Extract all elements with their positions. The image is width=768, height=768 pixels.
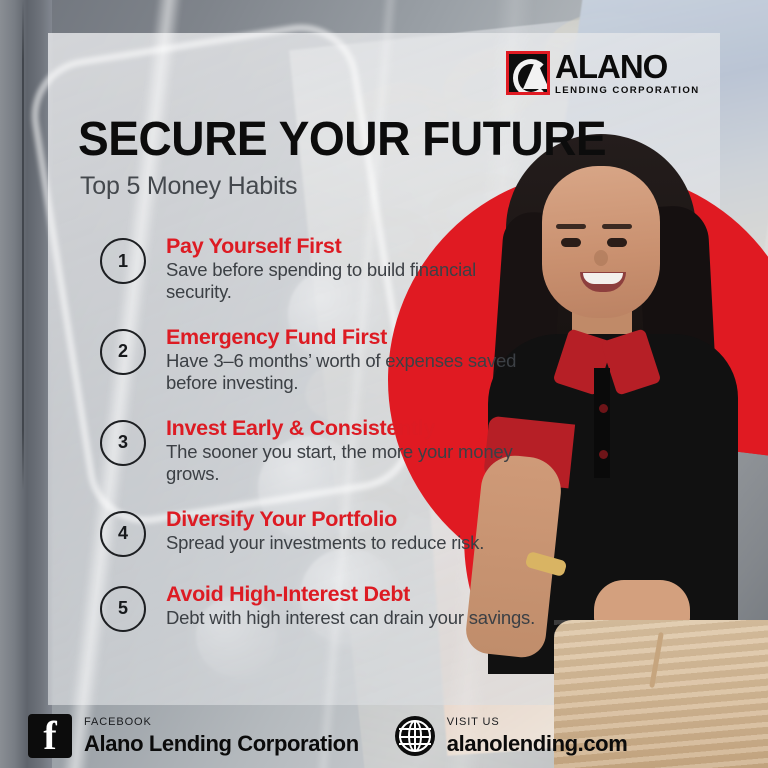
model-button — [599, 450, 608, 459]
tip-title: Emergency Fund First — [166, 325, 540, 349]
tip-number-badge: 5 — [100, 586, 146, 632]
tip-title: Pay Yourself First — [166, 234, 540, 258]
tip-number-badge: 4 — [100, 511, 146, 557]
tip-body: Debt with high interest can drain your s… — [166, 607, 540, 628]
model-button — [599, 404, 608, 413]
brand-logo[interactable]: ALANO LENDING CORPORATION — [506, 50, 700, 96]
tip-body: Spread your investments to reduce risk. — [166, 532, 540, 553]
footer-website-value: alanolending.com — [447, 733, 628, 755]
list-item: 4 Diversify Your Portfolio Spread your i… — [100, 507, 540, 559]
footer-facebook[interactable]: FACEBOOK Alano Lending Corporation — [28, 714, 359, 758]
globe-icon[interactable] — [395, 716, 435, 756]
model-nose — [594, 250, 608, 266]
tips-list: 1 Pay Yourself First Save before spendin… — [100, 234, 540, 657]
footer: FACEBOOK Alano Lending Corporation VISIT… — [0, 704, 768, 768]
list-item: 1 Pay Yourself First Save before spendin… — [100, 234, 540, 302]
footer-website[interactable]: VISIT US alanolending.com — [395, 716, 628, 756]
footer-facebook-value: Alano Lending Corporation — [84, 733, 359, 755]
tip-body: Have 3–6 months’ worth of expenses saved… — [166, 350, 540, 393]
model-brow — [602, 224, 632, 229]
tip-title: Invest Early & Consistently — [166, 416, 540, 440]
poster: UE5416 — [0, 0, 768, 768]
tip-title: Avoid High-Interest Debt — [166, 582, 540, 606]
brand-name: ALANO — [555, 50, 700, 83]
model-brow — [556, 224, 586, 229]
facebook-icon[interactable] — [28, 714, 72, 758]
page-subtitle: Top 5 Money Habits — [80, 172, 297, 201]
tip-title: Diversify Your Portfolio — [166, 507, 540, 531]
tip-body: Save before spending to build financial … — [166, 259, 540, 302]
ga-monogram-icon — [506, 51, 550, 95]
model-eye — [607, 238, 627, 247]
page-title: SECURE YOUR FUTURE — [78, 116, 606, 164]
list-item: 2 Emergency Fund First Have 3–6 months’ … — [100, 325, 540, 393]
brand-tagline: LENDING CORPORATION — [555, 86, 700, 96]
footer-website-label: VISIT US — [447, 717, 628, 728]
model-face — [542, 166, 660, 318]
tip-body: The sooner you start, the more your mone… — [166, 441, 540, 484]
tip-number-badge: 1 — [100, 238, 146, 284]
model-eye — [561, 238, 581, 247]
model-placket — [594, 368, 610, 478]
list-item: 5 Avoid High-Interest Debt Debt with hig… — [100, 582, 540, 634]
tip-number-badge: 2 — [100, 329, 146, 375]
list-item: 3 Invest Early & Consistently The sooner… — [100, 416, 540, 484]
footer-facebook-label: FACEBOOK — [84, 717, 359, 728]
tip-number-badge: 3 — [100, 420, 146, 466]
